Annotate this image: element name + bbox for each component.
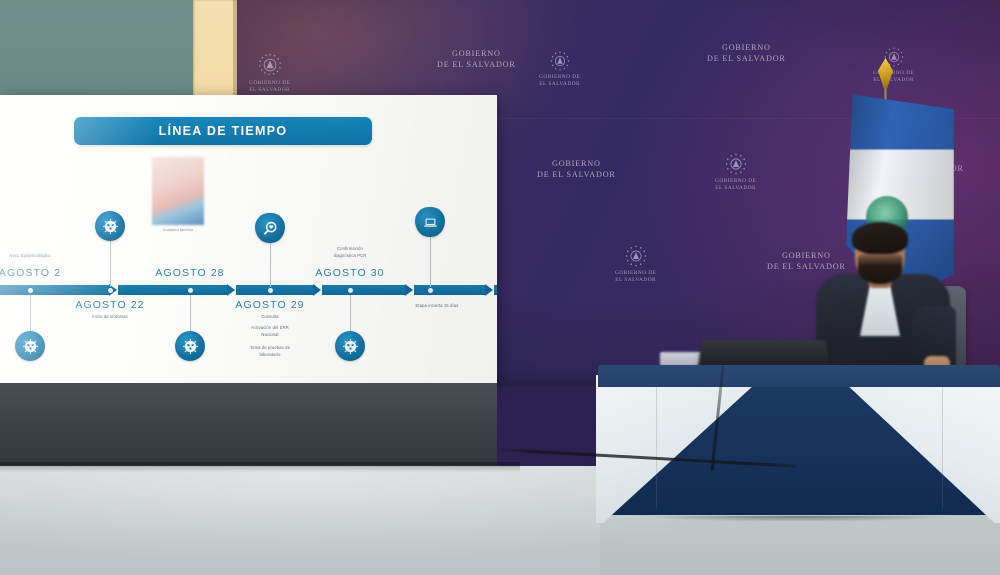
- backdrop-text-line2: EL SALVADOR: [249, 87, 290, 94]
- timeline-segment: [414, 285, 486, 295]
- virus-glyph: [182, 338, 199, 355]
- timeline-description: Confirmación: [298, 246, 402, 253]
- backdrop-text-line1: GOBIERNO: [437, 48, 516, 59]
- timeline-description: Nacional: [218, 332, 322, 339]
- backdrop-text-line2: EL SALVADOR: [615, 277, 656, 284]
- timeline-node: [188, 288, 193, 293]
- slide-photo: [152, 157, 204, 225]
- magnifier-heart-glyph: [262, 220, 279, 237]
- timeline-description: Activación del ERR: [218, 325, 322, 332]
- desk-top-cloth: [598, 365, 1000, 387]
- backdrop-text-unit: GOBIERNO DE EL SALVADOR: [437, 48, 516, 70]
- timeline-node: [28, 288, 33, 293]
- backdrop-logo-unit: GOBIERNO DE EL SALVADOR: [539, 50, 580, 89]
- timeline-node: [108, 288, 113, 293]
- backdrop-logo-unit: GOBIERNO DE EL SALVADOR: [873, 46, 914, 85]
- slide-photo-caption: Contacto familiar: [128, 228, 228, 232]
- backdrop-text-line1: GOBIERNO: [537, 158, 616, 169]
- el-salvador-seal-icon: [724, 152, 748, 176]
- desk-shadow: [590, 516, 1000, 530]
- backdrop-text-line2: EL SALVADOR: [539, 81, 580, 88]
- timeline-stem: [110, 241, 111, 287]
- backdrop-logo-unit: GOBIERNO DE EL SALVADOR: [249, 52, 290, 95]
- timeline-stem: [190, 295, 191, 333]
- timeline-stem: [430, 237, 431, 287]
- backdrop-text-unit: GOBIERNO DE EL SALVADOR: [707, 42, 786, 64]
- timeline-stem: [30, 295, 31, 333]
- timeline-segment: [0, 285, 110, 295]
- backdrop-text-line2: EL SALVADOR: [873, 77, 914, 84]
- backdrop-logo-unit: GOBIERNO DE EL SALVADOR: [615, 244, 656, 285]
- search-health-icon: [255, 213, 285, 243]
- timeline-description: Nexo Epidemiológico: [0, 253, 82, 260]
- stage-shadow: [0, 462, 520, 472]
- timeline-segment: [236, 285, 314, 295]
- timeline-date: AGOSTO 28: [138, 267, 242, 279]
- seated-official: [808, 222, 958, 372]
- backdrop-text-line2: DE EL SALVADOR: [537, 169, 616, 180]
- drape-fold: [656, 379, 657, 509]
- timeline-description: Toma de pruebas de: [218, 345, 322, 352]
- timeline-description: diagnóstica PCR: [298, 253, 402, 260]
- slide-title: LÍNEA DE TIEMPO: [74, 117, 372, 145]
- projection-screen: LÍNEA DE TIEMPO Contacto familiar: [0, 95, 497, 383]
- timeline-date: AGOSTO 22: [58, 299, 162, 311]
- timeline-description: Etapa incierta 15 días: [378, 303, 496, 310]
- laptop-icon: [415, 207, 445, 237]
- el-salvador-seal-icon: [624, 244, 648, 268]
- virus-icon: [15, 331, 45, 361]
- virus-glyph: [102, 218, 119, 235]
- timeline-rail: [0, 285, 497, 295]
- backdrop-text-line2: EL SALVADOR: [715, 185, 756, 192]
- timeline-node: [348, 288, 353, 293]
- stage-skirt: [0, 383, 497, 471]
- el-salvador-seal-icon: [257, 52, 283, 78]
- timeline-date: AGOSTO 29: [218, 299, 322, 311]
- backdrop-text-line2: DE EL SALVADOR: [707, 53, 786, 64]
- conference-desk: [598, 365, 1000, 525]
- backdrop-text-line1: GOBIERNO: [707, 42, 786, 53]
- timeline-description: Inicio de síntomas: [58, 314, 162, 321]
- virus-glyph: [22, 338, 39, 355]
- timeline-stem: [270, 243, 271, 287]
- person-beard: [858, 254, 902, 284]
- timeline-segment: [494, 285, 497, 295]
- presentation-slide: LÍNEA DE TIEMPO Contacto familiar: [0, 95, 497, 383]
- virus-glyph: [342, 338, 359, 355]
- timeline-segment: [322, 285, 406, 295]
- drape-fold: [942, 379, 943, 509]
- backdrop-text-unit: GOBIERNO DE EL SALVADOR: [537, 158, 616, 180]
- virus-icon: [335, 331, 365, 361]
- backdrop-logo-unit: GOBIERNO DE EL SALVADOR: [715, 152, 756, 193]
- virus-icon: [95, 211, 125, 241]
- backdrop-text-line2: DE EL SALVADOR: [437, 59, 516, 70]
- timeline-description: laboratorio: [218, 352, 322, 359]
- el-salvador-seal-icon: [549, 50, 571, 72]
- virus-icon: [175, 331, 205, 361]
- timeline-node: [268, 288, 273, 293]
- screenshot-root: GOBIERNO DE EL SALVADOR GOBIERNO DE EL S…: [0, 0, 1000, 575]
- timeline-date: AGOSTO 30: [298, 267, 402, 279]
- timeline-node: [428, 288, 433, 293]
- timeline-segment: [118, 285, 228, 295]
- timeline-stem: [350, 295, 351, 333]
- timeline-date: AGOSTO 2: [0, 267, 82, 279]
- person-hair: [852, 222, 908, 254]
- laptop-glyph: [422, 214, 439, 231]
- timeline-description: Consulta: [218, 314, 322, 321]
